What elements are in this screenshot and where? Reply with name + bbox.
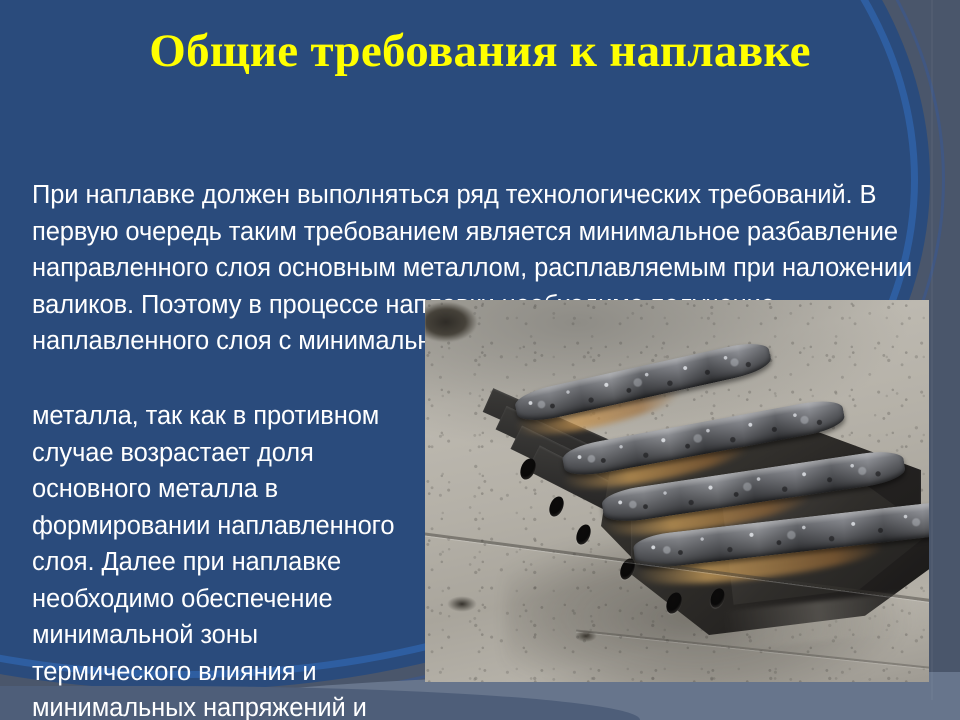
body-paragraph-bottom-text: металла, так как в противном случае возр… <box>32 398 424 720</box>
ground-debris <box>575 630 597 642</box>
slide-title: Общие требования к наплавке <box>0 22 960 80</box>
presentation-slide: Общие требования к наплавке При наплавке… <box>0 0 960 720</box>
body-paragraph-bottom: металла, так как в противном случае возр… <box>32 325 424 720</box>
ground-debris <box>425 302 477 342</box>
ground-debris <box>447 596 477 612</box>
slide-photo <box>425 300 929 682</box>
